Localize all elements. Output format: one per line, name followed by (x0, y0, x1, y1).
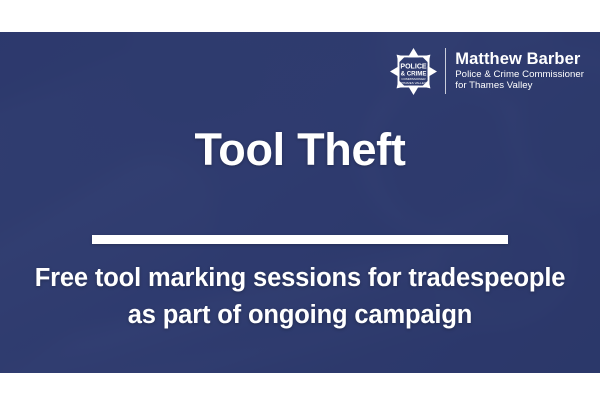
title-divider-rule (92, 235, 508, 244)
subtitle-line-1: Free tool marking sessions for tradespeo… (35, 264, 566, 292)
logo-text-block: Matthew Barber Police & Crime Commission… (455, 51, 584, 92)
pcc-logo-lockup: POLICE & CRIME COMMISSIONER THAMES VALLE… (390, 43, 584, 99)
commissioner-name: Matthew Barber (455, 51, 584, 69)
svg-text:COMMISSIONER: COMMISSIONER (402, 76, 427, 80)
commissioner-role-line2: for Thames Valley (455, 81, 584, 91)
police-crime-commissioner-badge-icon: POLICE & CRIME COMMISSIONER THAMES VALLE… (390, 48, 437, 95)
hero-panel: POLICE & CRIME COMMISSIONER THAMES VALLE… (0, 32, 600, 373)
subtitle-line-2: as part of ongoing campaign (0, 297, 600, 334)
svg-text:& CRIME: & CRIME (401, 70, 427, 77)
svg-text:THAMES VALLEY: THAMES VALLEY (401, 81, 426, 85)
page-title: Tool Theft (0, 124, 600, 176)
poster-canvas: POLICE & CRIME COMMISSIONER THAMES VALLE… (0, 0, 600, 410)
logo-divider (445, 48, 446, 94)
svg-text:POLICE: POLICE (401, 63, 428, 70)
commissioner-role-line1: Police & Crime Commissioner (455, 70, 584, 80)
subtitle-block: Free tool marking sessions for tradespeo… (0, 260, 600, 333)
